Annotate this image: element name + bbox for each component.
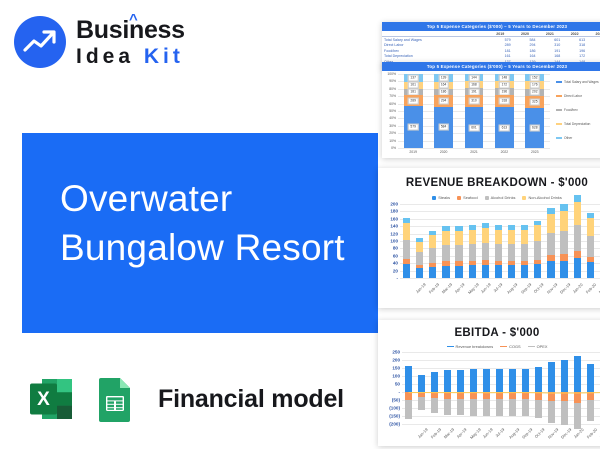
- stacked-bar: [482, 223, 489, 278]
- y-tick-label: 30%: [389, 124, 396, 128]
- y-tick-label: 120: [390, 231, 398, 236]
- bar-segment: [469, 244, 476, 261]
- gridline: [400, 219, 600, 220]
- stacked-plot-area: 1371611812895792019139164186294584202014…: [398, 74, 550, 148]
- slide-root: Business ^ Idea Kit Overwater Bungalow R…: [0, 0, 600, 449]
- x-tick-label: Mar-19: [442, 427, 454, 439]
- bar-segment: [560, 261, 567, 278]
- revenue-breakdown-chart: 20018016014012010080604020-Jan-19Feb-19M…: [378, 168, 600, 308]
- ebitda-plot-area: [402, 352, 600, 424]
- bar-segment: [508, 265, 515, 278]
- x-tick-label: 2023: [519, 150, 550, 154]
- bar-segment: 181: [404, 89, 423, 96]
- x-tick-label: Feb-19: [427, 282, 440, 295]
- bar-segment: [560, 231, 567, 255]
- bar-segment: [429, 248, 436, 263]
- bar-segment: [574, 258, 581, 278]
- stacked-bar: [455, 226, 462, 278]
- y-tick-label: 100: [390, 239, 398, 244]
- brand-logo: Business ^ Idea Kit: [14, 16, 185, 68]
- y-tick-label: 80: [393, 246, 398, 251]
- bar-segment: [574, 195, 581, 202]
- bar-segment: 186: [434, 89, 453, 96]
- bar-segment: [508, 244, 515, 261]
- y-tick-label: 40: [393, 261, 398, 266]
- bar-segment: 310: [465, 95, 484, 107]
- stacked-bar: [469, 225, 476, 278]
- brand-line-1: Business ^: [76, 18, 185, 43]
- y-tick-label: 140: [390, 224, 398, 229]
- y-tick-label: 60%: [389, 102, 396, 106]
- y-tick-label: 40%: [389, 116, 396, 120]
- bar-segment: [482, 265, 489, 278]
- brand-line-2: Idea Kit: [76, 46, 185, 67]
- bar-value-label: 202: [530, 89, 541, 96]
- x-tick-label: 2019: [398, 150, 429, 154]
- x-tick-label: Oct-19: [533, 427, 545, 439]
- y-tick-label: 160: [390, 216, 398, 221]
- bar-segment: [455, 231, 462, 245]
- bar-segment: [560, 211, 567, 231]
- legend-swatch: [556, 137, 562, 138]
- bar-segment: [416, 268, 423, 278]
- gridline: [402, 424, 600, 425]
- y-tick-label: 60: [393, 253, 398, 258]
- bar-value-label: 294: [438, 98, 449, 105]
- bar-segment: [495, 265, 502, 278]
- bar-segment: [574, 251, 581, 258]
- x-tick-label: Feb-19: [429, 427, 442, 440]
- legend-item: Total Salary and Wages: [556, 80, 599, 84]
- bar-segment: [574, 202, 581, 225]
- bar-segment: 191: [465, 88, 484, 95]
- x-tick-label: Feb-20: [585, 282, 598, 295]
- legend-label: Direct Labor: [564, 94, 582, 98]
- ebitda-chart: 25020015010050-(50)(100)(150)(200)Jan-19…: [378, 320, 600, 446]
- bar-value-label: 191: [469, 88, 480, 95]
- x-tick-label: Aug-19: [507, 427, 520, 440]
- bar-segment: 601: [465, 107, 484, 148]
- legend-item: Other: [556, 136, 572, 140]
- bar-value-label: 613: [499, 124, 510, 131]
- stacked-bar: 1441681913106012021: [465, 74, 484, 148]
- bar-segment: [587, 236, 594, 257]
- expense-stacked-chart: 1371611812895792019139164186294584202014…: [382, 62, 600, 158]
- bar-segment: [547, 214, 554, 233]
- bar-segment: [534, 241, 541, 260]
- bar-segment: 579: [404, 106, 423, 148]
- x-tick-label: Dec-19: [559, 282, 572, 295]
- bar-segment: [587, 262, 594, 278]
- x-tick-label: Nov-19: [546, 282, 559, 295]
- bar-value-label: 176: [530, 82, 541, 89]
- x-tick-label: Feb-20: [585, 427, 598, 440]
- bar-segment: [521, 244, 528, 261]
- bar-segment: 168: [465, 81, 484, 88]
- bar-segment: [403, 240, 410, 259]
- bar-value-label: 289: [408, 97, 419, 104]
- legend-label: Total Salary and Wages: [564, 80, 599, 84]
- bar-value-label: 144: [469, 74, 480, 81]
- brand-accent-caret-icon: ^: [129, 12, 137, 27]
- bar-segment: [442, 266, 449, 278]
- title-banner: Overwater Bungalow Resort: [22, 133, 378, 333]
- bar-segment: [442, 245, 449, 262]
- format-label: Financial model: [158, 385, 344, 414]
- bar-segment: [455, 245, 462, 262]
- gridline: [400, 278, 600, 279]
- gridline: [400, 204, 600, 205]
- bar-segment: [547, 261, 554, 278]
- x-tick-label: May-19: [468, 427, 481, 440]
- brand-wordmark: Business ^ Idea Kit: [76, 18, 185, 67]
- ebitda-card: EBITDA - $'000 Revenue breakdownsCOGSOPE…: [378, 320, 600, 446]
- x-tick-label: Dec-19: [559, 427, 572, 440]
- bar-value-label: 579: [408, 123, 419, 130]
- bar-segment: [587, 218, 594, 236]
- y-tick-label: (200): [389, 422, 400, 427]
- x-tick-label: 2020: [428, 150, 459, 154]
- gridline: [400, 211, 600, 212]
- ebitda-line: [402, 352, 600, 424]
- bar-segment: 196: [495, 88, 514, 95]
- stacked-bar: [574, 195, 581, 278]
- stacked-bar: 1371611812895792019: [404, 74, 423, 148]
- x-tick-label: Oct-19: [532, 282, 544, 294]
- stacked-bar: [403, 218, 410, 278]
- y-tick-label: 250: [392, 350, 400, 355]
- x-tick-label: 2022: [489, 150, 520, 154]
- bar-segment: [469, 265, 476, 278]
- y-tick-label: (50): [392, 398, 400, 403]
- y-tick-label: 100: [392, 374, 400, 379]
- y-tick-label: 20: [393, 268, 398, 273]
- bar-segment: 289: [404, 95, 423, 105]
- x-tick-label: 2021: [459, 150, 490, 154]
- y-tick-label: 90%: [389, 79, 396, 83]
- bar-value-label: 152: [530, 74, 541, 81]
- bar-segment: [442, 231, 449, 245]
- bar-segment: 137: [404, 74, 423, 82]
- bar-segment: [469, 230, 476, 244]
- x-tick-label: Aug-19: [506, 282, 519, 295]
- x-tick-label: Jan-20: [572, 282, 584, 294]
- bar-segment: [508, 230, 515, 244]
- y-tick-label: 0%: [391, 146, 396, 150]
- y-tick-label: 200: [390, 202, 398, 207]
- stacked-bar: 1521762023256282023: [525, 74, 544, 148]
- y-tick-label: 50: [395, 382, 400, 387]
- revenue-breakdown-card: REVENUE BREAKDOWN - $'000 SteaksSeafoodA…: [378, 168, 600, 308]
- legend-item: Total Depreciation: [556, 122, 590, 126]
- x-tick-label: Jul-19: [494, 427, 505, 438]
- legend-swatch: [556, 109, 562, 110]
- x-tick-label: Jun-19: [481, 427, 493, 439]
- bar-segment: [416, 252, 423, 265]
- bar-value-label: 628: [530, 125, 541, 132]
- y-tick-label: 150: [392, 366, 400, 371]
- bar-value-label: 318: [499, 98, 510, 105]
- bar-segment: [495, 244, 502, 261]
- x-tick-label: Sep-19: [520, 427, 533, 440]
- y-tick-label: -: [396, 276, 398, 281]
- legend-label: Food/bev: [564, 108, 578, 112]
- bar-value-label: 325: [530, 99, 541, 106]
- bar-segment: 325: [525, 96, 544, 108]
- bar-value-label: 137: [408, 75, 419, 82]
- y-tick-label: 80%: [389, 87, 396, 91]
- bar-value-label: 584: [438, 124, 449, 131]
- bar-segment: 139: [434, 74, 453, 82]
- bar-segment: [429, 235, 436, 248]
- bar-segment: [495, 230, 502, 244]
- bar-value-label: 139: [438, 75, 449, 82]
- x-tick-label: Jan-19: [414, 282, 426, 294]
- bar-segment: [482, 243, 489, 260]
- bar-segment: [574, 225, 581, 252]
- stacked-bar: [508, 225, 515, 278]
- x-tick-label: Nov-19: [546, 427, 559, 440]
- bar-segment: 172: [495, 81, 514, 88]
- trending-up-arrow-icon: [14, 16, 66, 68]
- microsoft-excel-icon: X: [26, 374, 76, 424]
- x-tick-label: Mar-19: [441, 282, 453, 294]
- y-tick-label: (150): [389, 414, 400, 419]
- expense-table-banner: Top 5 Expense Categories ($'000) – 5 Yea…: [382, 22, 600, 31]
- bar-segment: [534, 225, 541, 241]
- format-footer: X Financial model: [26, 374, 344, 424]
- stacked-bar: [416, 238, 423, 278]
- y-tick-label: 180: [390, 209, 398, 214]
- legend-item: Food/bev: [556, 108, 578, 112]
- bar-value-label: 148: [499, 74, 510, 81]
- bar-segment: [547, 233, 554, 256]
- bar-segment: 176: [525, 81, 544, 88]
- brand-line-2-idea: Idea: [76, 45, 134, 68]
- google-sheets-icon: [90, 374, 140, 424]
- stacked-bar: [429, 231, 436, 278]
- y-tick-label: 70%: [389, 94, 396, 98]
- bar-segment: [534, 264, 541, 278]
- page-title: Overwater Bungalow Resort: [60, 175, 380, 273]
- x-tick-label: May-19: [467, 282, 480, 295]
- bar-segment: [429, 267, 436, 278]
- x-tick-label: Apr-19: [455, 427, 467, 439]
- x-tick-label: Jan-19: [416, 427, 428, 439]
- legend-item: Direct Labor: [556, 94, 582, 98]
- legend-label: Other: [564, 136, 572, 140]
- bar-segment: [403, 264, 410, 278]
- x-tick-label: Sep-19: [519, 282, 532, 295]
- bar-segment: [482, 228, 489, 243]
- y-tick-label: 50%: [389, 109, 396, 113]
- legend-label: Total Depreciation: [564, 122, 590, 126]
- stacked-bar: [521, 225, 528, 278]
- stacked-bar: [560, 204, 567, 278]
- bar-segment: 294: [434, 95, 453, 106]
- bar-segment: [416, 242, 423, 253]
- bar-segment: 318: [495, 95, 514, 107]
- bar-segment: [455, 266, 462, 278]
- legend-swatch: [556, 95, 562, 96]
- legend-swatch: [556, 123, 562, 124]
- expense-stacked-chart-card: Top 5 Expense Categories ($'000) – 5 Yea…: [382, 62, 600, 158]
- y-tick-label: 20%: [389, 131, 396, 135]
- brand-line-2-kit: Kit: [144, 45, 184, 68]
- bar-segment: [403, 223, 410, 239]
- stacked-bar: [547, 208, 554, 278]
- page-title-line-2: Bungalow Resort: [60, 224, 380, 273]
- bar-segment: 202: [525, 89, 544, 96]
- y-tick-label: 200: [392, 358, 400, 363]
- stacked-bar: [495, 225, 502, 278]
- stacked-bar: [442, 226, 449, 278]
- y-tick-label: -: [398, 390, 400, 395]
- bar-segment: 152: [525, 74, 544, 81]
- stacked-bar: [534, 221, 541, 278]
- y-tick-label: 10%: [389, 139, 396, 143]
- bar-segment: 584: [434, 107, 453, 148]
- x-tick-label: Jan-20: [572, 427, 584, 439]
- bar-segment: [521, 265, 528, 278]
- bar-value-label: 601: [469, 124, 480, 131]
- stacked-bar: 1391641862945842020: [434, 74, 453, 148]
- bar-segment: 613: [495, 107, 514, 148]
- stacked-bar: 1481721963186132022: [495, 74, 514, 148]
- y-tick-label: (100): [389, 406, 400, 411]
- revenue-plot-area: [400, 204, 600, 278]
- x-tick-label: Jul-19: [493, 282, 504, 293]
- svg-text:X: X: [37, 389, 50, 410]
- page-title-line-1: Overwater: [60, 175, 380, 224]
- bar-value-label: 310: [469, 98, 480, 105]
- x-tick-label: Apr-19: [453, 282, 465, 294]
- y-tick-label: 100%: [387, 72, 396, 76]
- stacked-bar: [587, 213, 594, 278]
- bar-value-label: 196: [499, 88, 510, 95]
- legend-swatch: [556, 81, 562, 82]
- x-tick-label: Jun-19: [480, 282, 492, 294]
- bar-segment: 628: [525, 108, 544, 148]
- bar-segment: [521, 230, 528, 244]
